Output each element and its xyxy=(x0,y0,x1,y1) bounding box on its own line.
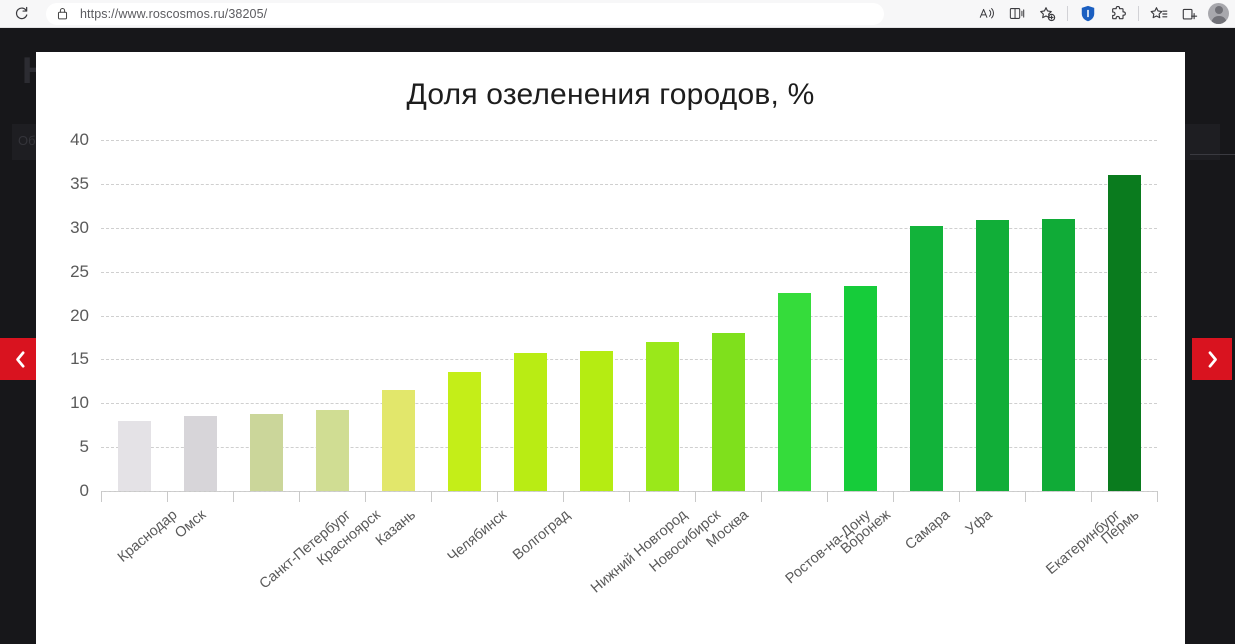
x-axis-tick-label: Самара xyxy=(902,507,953,553)
x-axis-tick-label: Уфа xyxy=(963,507,996,538)
x-axis-tick xyxy=(1025,491,1026,502)
carousel-next-button[interactable] xyxy=(1192,338,1232,380)
chart-bar[interactable] xyxy=(184,416,217,491)
x-axis-tick xyxy=(629,491,630,502)
x-axis-tick xyxy=(893,491,894,502)
x-axis-tick xyxy=(233,491,234,502)
chart-bar[interactable] xyxy=(580,351,613,491)
favorites-icon[interactable] xyxy=(1144,1,1174,27)
x-axis-tick-label: Краснодар xyxy=(115,507,181,566)
y-axis-tick-label: 30 xyxy=(70,218,89,238)
carousel-prev-button[interactable] xyxy=(0,338,40,380)
x-axis-tick xyxy=(365,491,366,502)
chart-title: Доля озеленения городов, % xyxy=(36,78,1185,112)
x-axis-tick xyxy=(431,491,432,502)
y-axis-tick-label: 5 xyxy=(80,437,89,457)
chart-bar[interactable] xyxy=(382,390,415,491)
chart-bar[interactable] xyxy=(1108,175,1141,491)
x-axis-tick xyxy=(167,491,168,502)
toolbar-divider xyxy=(1067,6,1068,21)
toolbar-divider xyxy=(1138,6,1139,21)
chart-plot-area: 0510152025303540 xyxy=(101,140,1157,491)
x-axis-tick xyxy=(761,491,762,502)
chart-bar[interactable] xyxy=(1042,219,1075,491)
x-axis-tick xyxy=(1157,491,1158,502)
chart-card: Доля озеленения городов, % 0510152025303… xyxy=(36,52,1185,644)
chevron-right-icon xyxy=(1205,350,1220,369)
panel-label: Об xyxy=(18,133,36,148)
y-axis-tick-label: 35 xyxy=(70,174,89,194)
url-text: https://www.roscosmos.ru/38205/ xyxy=(80,7,267,21)
reload-icon[interactable] xyxy=(6,1,36,27)
extensions-puzzle-icon[interactable] xyxy=(1103,1,1133,27)
x-axis-tick xyxy=(101,491,102,502)
gridline xyxy=(101,140,1157,141)
chevron-left-icon xyxy=(13,350,28,369)
x-axis-tick xyxy=(299,491,300,502)
chart-bar[interactable] xyxy=(910,226,943,491)
x-axis-tick-label: Волгоград xyxy=(510,507,573,563)
page-divider xyxy=(1190,154,1235,155)
lock-icon xyxy=(57,7,68,20)
address-bar[interactable]: https://www.roscosmos.ru/38205/ xyxy=(46,3,884,25)
y-axis-tick-label: 20 xyxy=(70,306,89,326)
chart-bar[interactable] xyxy=(712,333,745,491)
browser-actions xyxy=(972,0,1235,28)
chart-bar[interactable] xyxy=(646,342,679,491)
shield-extension-icon[interactable] xyxy=(1073,1,1103,27)
profile-avatar[interactable] xyxy=(1208,3,1229,24)
y-axis-tick-label: 15 xyxy=(70,349,89,369)
x-axis-tick xyxy=(695,491,696,502)
chart-bar[interactable] xyxy=(250,414,283,491)
chart-bar[interactable] xyxy=(844,286,877,491)
chart-bar[interactable] xyxy=(976,220,1009,491)
chart-bar[interactable] xyxy=(316,410,349,491)
chart-bar[interactable] xyxy=(514,353,547,491)
collections-icon[interactable] xyxy=(1174,1,1204,27)
add-favorite-icon[interactable] xyxy=(1032,1,1062,27)
x-axis-tick-label: Казань xyxy=(373,507,419,549)
chart-bar[interactable] xyxy=(118,421,151,491)
gridline xyxy=(101,184,1157,185)
y-axis-tick-label: 40 xyxy=(70,130,89,150)
page-bottom-strip xyxy=(0,628,36,644)
y-axis-tick-label: 10 xyxy=(70,393,89,413)
y-axis-tick-label: 0 xyxy=(80,481,89,501)
x-axis-tick xyxy=(563,491,564,502)
immersive-reader-icon[interactable] xyxy=(1002,1,1032,27)
read-aloud-icon[interactable] xyxy=(972,1,1002,27)
y-axis-tick-label: 25 xyxy=(70,262,89,282)
x-axis-tick xyxy=(827,491,828,502)
x-axis-tick-label: Омск xyxy=(172,507,209,542)
x-axis-tick-label: Челябинск xyxy=(445,507,510,565)
x-axis-tick xyxy=(959,491,960,502)
chart-bar[interactable] xyxy=(448,372,481,491)
chart-bar[interactable] xyxy=(778,293,811,491)
x-axis-tick xyxy=(1091,491,1092,502)
x-axis-tick xyxy=(497,491,498,502)
browser-toolbar: https://www.roscosmos.ru/38205/ xyxy=(0,0,1235,28)
